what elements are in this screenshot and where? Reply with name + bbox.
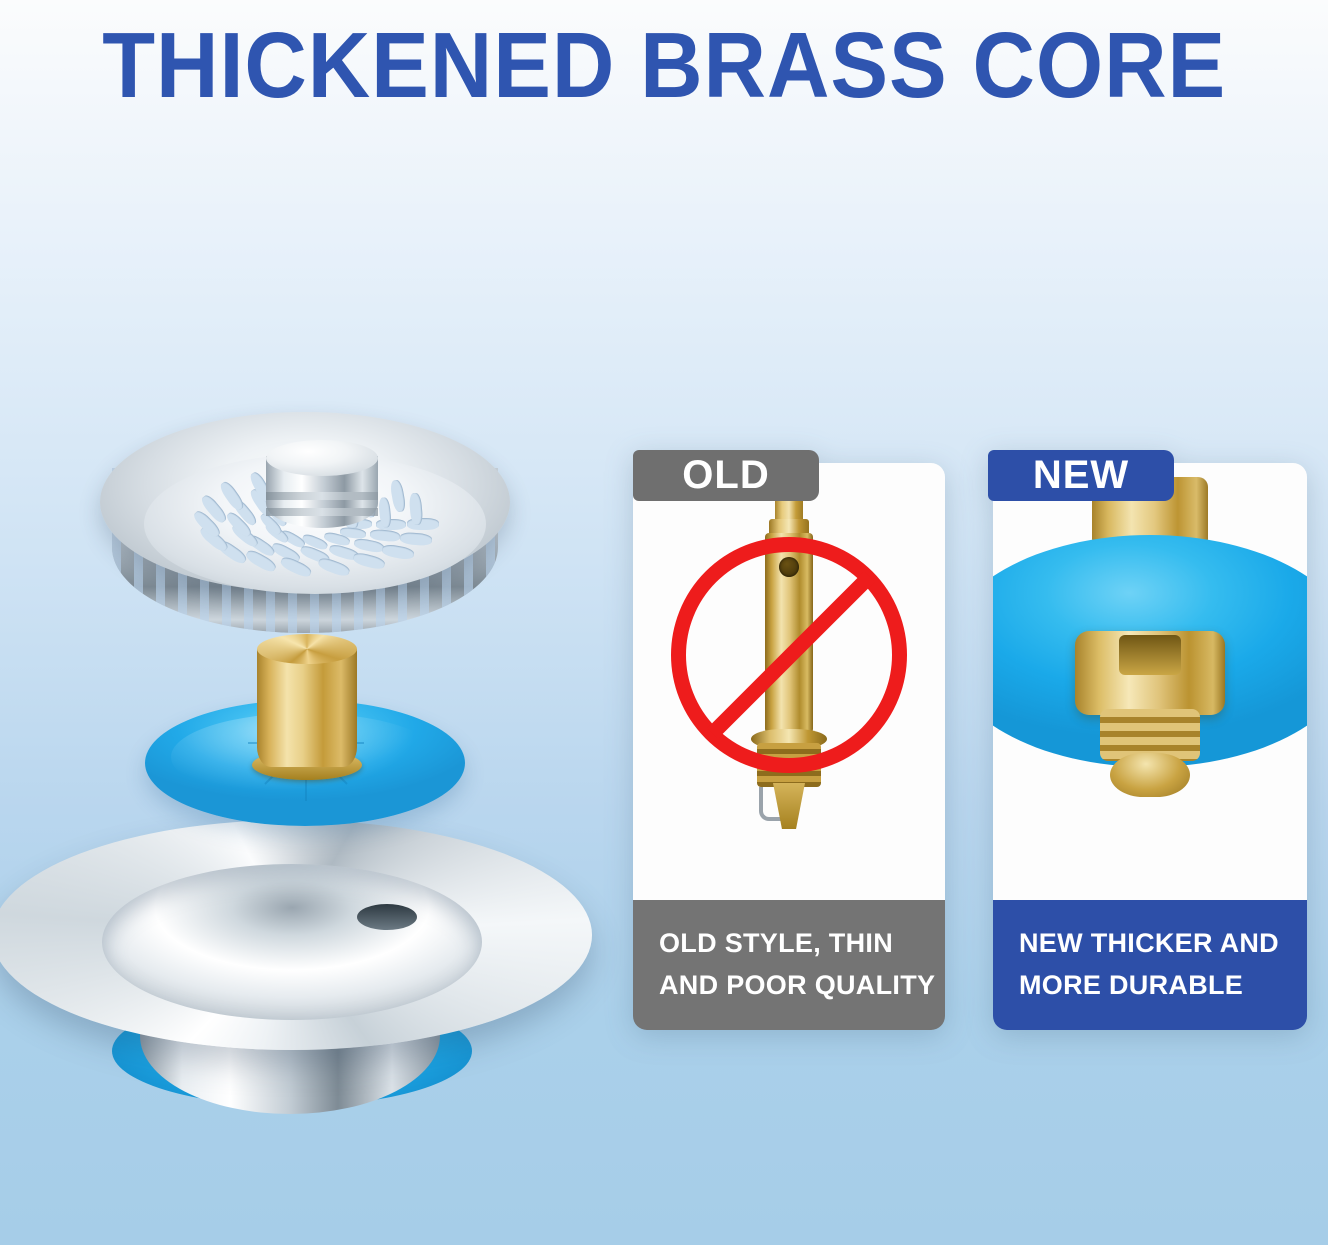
basket-slot [300, 554, 311, 602]
prohibition-icon [671, 537, 907, 773]
strainer-basket [90, 390, 520, 620]
old-badge: OLD [633, 450, 819, 501]
comparison-card-new: NEW NEW THICKER AND MORE DURABLE [993, 463, 1307, 1030]
old-caption-line-2: AND POOR QUALITY [659, 965, 945, 1007]
new-badge-label: NEW [1033, 453, 1129, 498]
basket-knob [266, 440, 378, 544]
header-banner: THICKENED BRASS CORE [0, 0, 1328, 130]
old-caption-line-1: OLD STYLE, THIN [659, 923, 945, 965]
flange-center-hole [357, 904, 417, 930]
flange-bowl [102, 864, 482, 1020]
drain-flange-assembly [0, 820, 592, 1120]
new-caption: NEW THICKER AND MORE DURABLE [993, 900, 1307, 1030]
new-caption-line-2: MORE DURABLE [1019, 965, 1307, 1007]
brass-core-and-seal [145, 628, 465, 828]
new-product-photo [993, 463, 1307, 900]
flange-disc [0, 820, 592, 1050]
brass-core-cylinder [257, 634, 357, 779]
old-product-photo [633, 463, 945, 900]
product-exploded-illustration [0, 380, 600, 1140]
old-badge-label: OLD [682, 453, 769, 498]
page-title: THICKENED BRASS CORE [102, 12, 1226, 119]
new-caption-line-1: NEW THICKER AND [1019, 923, 1307, 965]
new-badge: NEW [988, 450, 1174, 501]
comparison-card-old: OLD OLD STYLE, THIN AND POOR QUALITY [633, 463, 945, 1030]
new-thick-brass-core [993, 463, 1307, 900]
old-caption: OLD STYLE, THIN AND POOR QUALITY [633, 900, 945, 1030]
